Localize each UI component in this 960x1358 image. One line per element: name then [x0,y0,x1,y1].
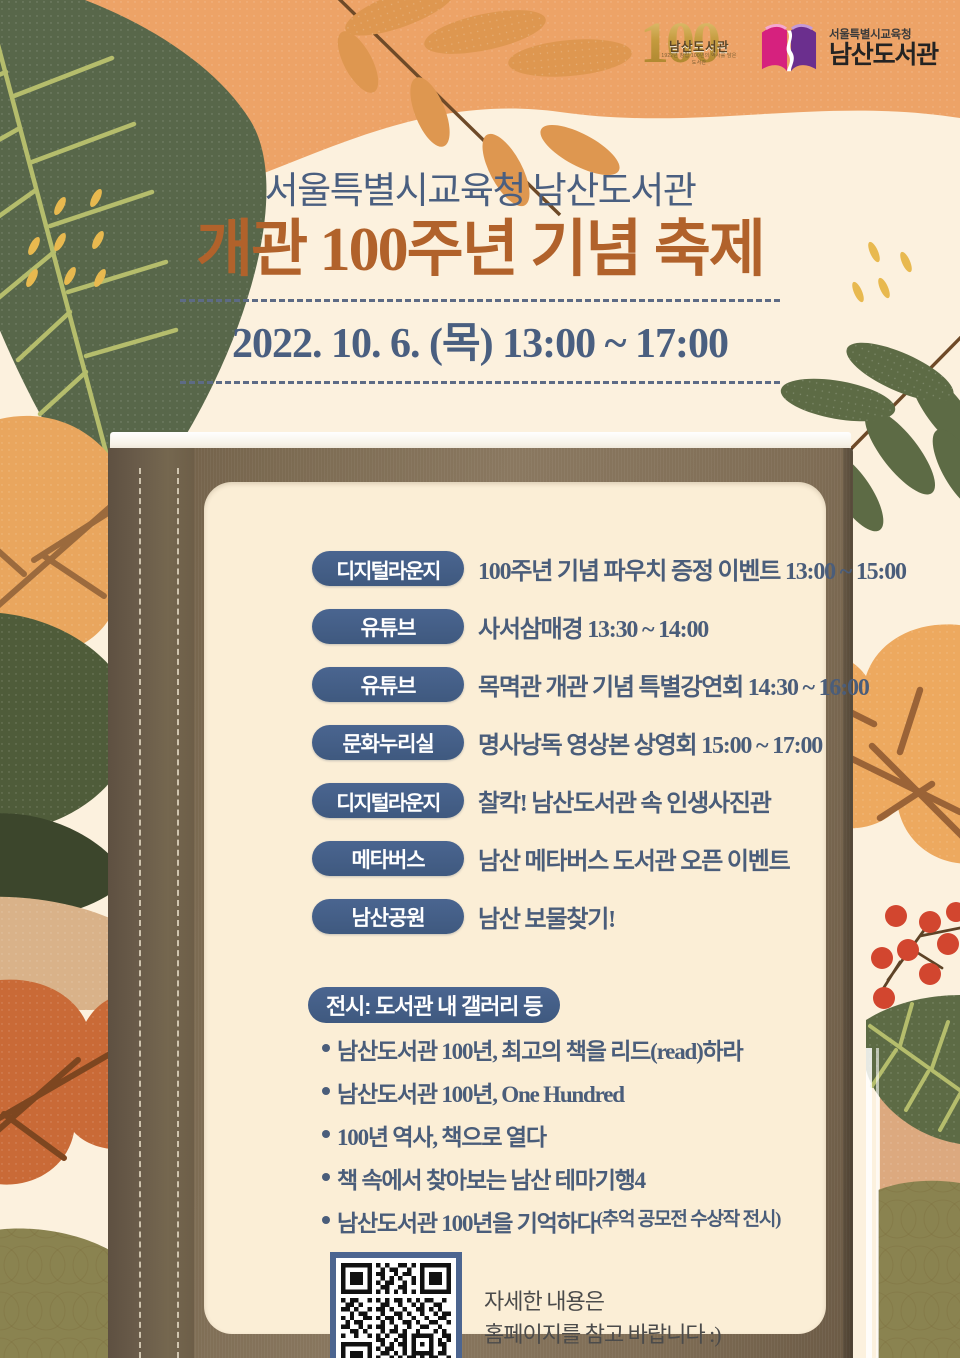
exhibition-item: 남산도서관 100년, 최고의 책을 리드(read)하라 [322,1032,928,1066]
program-row: 메타버스 남산 메타버스 도서관 오픈 이벤트 [312,834,922,883]
exhibition-item: 책 속에서 찾아보는 남산 테마기행4 [322,1161,928,1195]
bullet-icon [322,1044,330,1052]
header-block: 서울특별시교육청 남산도서관 개관 100주년 기념 축제 2022. 10. … [0,160,960,384]
bullet-icon [322,1130,330,1138]
qr-code[interactable] [330,1252,462,1358]
qr-note: 자세한 내용은 홈페이지를 참고 바랍니다 :) [484,1285,721,1351]
exhibition-section: 전시: 도서관 내 갤러리 등 남산도서관 100년, 최고의 책을 리드(re… [308,987,928,1247]
program-list: 디지털라운지 100주년 기념 파우치 증정 이벤트 13:00 ~ 15:00… [312,544,922,950]
program-detail: 100주년 기념 파우치 증정 이벤트 13:00 ~ 15:00 [478,551,906,586]
centennial-caption: 1922년 창립 100년의 역사를 담은 도서관 [660,52,738,66]
divider-top [180,299,780,302]
spine-stitch-left [139,468,141,1358]
logo-row: 100 남산도서관 1922년 창립 100년의 역사를 담은 도서관 서울특별… [640,14,938,84]
divider-bottom [180,381,780,384]
centennial-logo: 100 남산도서관 1922년 창립 100년의 역사를 담은 도서관 [640,14,740,84]
venue-badge: 유튜브 [312,609,464,644]
library-org-name: 서울특별시교육청 [829,29,938,41]
venue-badge: 디지털라운지 [312,783,464,818]
venue-badge: 유튜브 [312,667,464,702]
venue-badge: 디지털라운지 [312,551,464,586]
book-graphic: 디지털라운지 100주년 기념 파우치 증정 이벤트 13:00 ~ 15:00… [108,432,853,1358]
bullet-icon [322,1216,330,1224]
qr-note-line2: 홈페이지를 참고 바랍니다 :) [484,1318,721,1351]
qr-code-pattern [341,1263,451,1358]
spine-stitch-right [177,468,179,1358]
venue-badge: 문화누리실 [312,725,464,760]
bullet-icon [322,1173,330,1181]
exhibition-item-text: 남산도서관 100년, One Hundred [337,1075,624,1109]
venue-badge: 남산공원 [312,899,464,934]
exhibition-item-text: 책 속에서 찾아보는 남산 테마기행4 [337,1161,645,1195]
book-spine [108,448,194,1358]
program-row: 디지털라운지 100주년 기념 파우치 증정 이벤트 13:00 ~ 15:00 [312,544,922,593]
program-detail: 목멱관 개관 기념 특별강연회 14:30 ~ 16:00 [478,667,869,702]
library-logo: 서울특별시교육청 남산도서관 [758,21,938,77]
program-row: 유튜브 사서삼매경 13:30 ~ 14:00 [312,602,922,651]
library-name: 남산도서관 [829,42,938,68]
header-subtitle: 서울특별시교육청 남산도서관 [0,160,960,214]
exhibition-item: 100년 역사, 책으로 열다 [322,1118,928,1152]
exhibition-item-note: (추억 공모전 수상작 전시) [597,1204,781,1231]
program-row: 유튜브 목멱관 개관 기념 특별강연회 14:30 ~ 16:00 [312,660,922,709]
exhibition-item-text: 남산도서관 100년을 기억하다 [337,1204,597,1238]
bullet-icon [322,1087,330,1095]
program-row: 남산공원 남산 보물찾기! [312,892,922,941]
venue-badge: 메타버스 [312,841,464,876]
exhibition-item: 남산도서관 100년, One Hundred [322,1075,928,1109]
program-detail: 남산 메타버스 도서관 오픈 이벤트 [478,841,790,876]
header-date: 2022. 10. 6. (목) 13:00 ~ 17:00 [0,309,960,370]
program-row: 문화누리실 명사낭독 영상본 상영회 15:00 ~ 17:00 [312,718,922,767]
program-card: 디지털라운지 100주년 기념 파우치 증정 이벤트 13:00 ~ 15:00… [204,482,826,1334]
qr-code-inner [336,1258,456,1358]
exhibition-item: 남산도서관 100년을 기억하다 (추억 공모전 수상작 전시) [322,1204,928,1238]
qr-block: 자세한 내용은 홈페이지를 참고 바랍니다 :) [330,1252,721,1358]
program-detail: 찰칵! 남산도서관 속 인생사진관 [478,783,771,818]
header-title: 개관 100주년 기념 축제 [0,216,960,285]
program-detail: 남산 보물찾기! [478,899,615,934]
program-detail: 명사낭독 영상본 상영회 15:00 ~ 17:00 [478,725,822,760]
exhibition-item-text: 100년 역사, 책으로 열다 [337,1118,546,1152]
exhibition-heading: 전시: 도서관 내 갤러리 등 [308,987,560,1023]
program-row: 디지털라운지 찰칵! 남산도서관 속 인생사진관 [312,776,922,825]
exhibition-item-text: 남산도서관 100년, 최고의 책을 리드(read)하라 [337,1032,742,1066]
qr-note-line1: 자세한 내용은 [484,1285,721,1318]
open-book-logo-mark [758,21,820,77]
poster-canvas: 100 남산도서관 1922년 창립 100년의 역사를 담은 도서관 서울특별… [0,0,960,1358]
program-detail: 사서삼매경 13:30 ~ 14:00 [478,609,708,644]
exhibition-list: 남산도서관 100년, 최고의 책을 리드(read)하라 남산도서관 100년… [308,1032,928,1238]
